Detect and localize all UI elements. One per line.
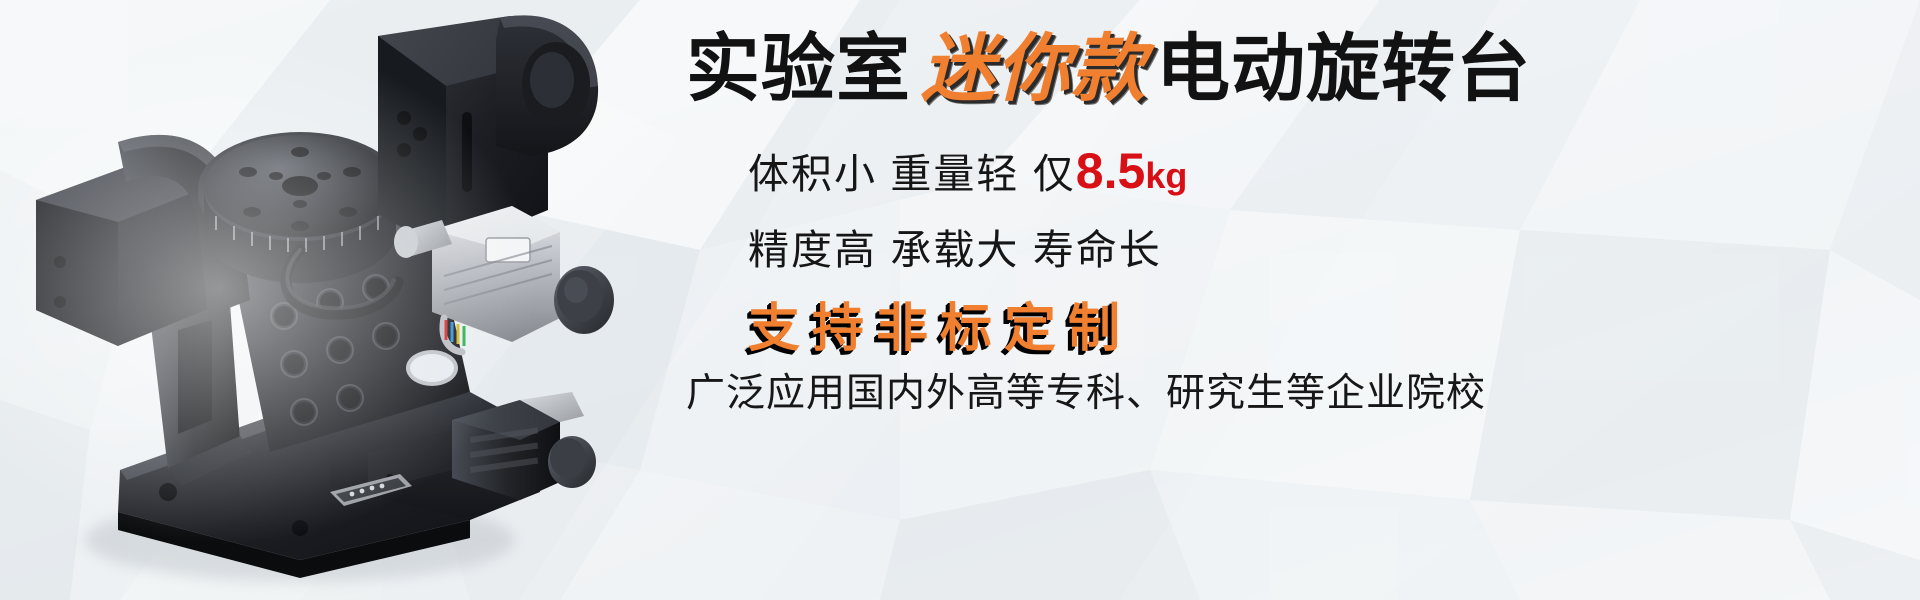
weight-unit: kg <box>1145 155 1187 196</box>
rotary-index-table <box>198 132 402 283</box>
feature-line-precision: 精度高 承载大 寿命长 <box>748 216 1162 276</box>
application-line: 广泛应用国内外高等专科、研究生等企业院校 <box>686 362 1486 418</box>
headline-accent: 迷你款 <box>911 27 1156 110</box>
rotary-stage-illustration <box>0 0 640 600</box>
headline: 实验室迷你款电动旋转台 <box>686 26 1531 112</box>
product-image <box>0 0 640 600</box>
headline-before: 实验室 <box>686 27 911 110</box>
promo-banner: 实验室迷你款电动旋转台 体积小 重量轻 仅8.5kg 精度高 承载大 寿命长 支… <box>0 0 1920 600</box>
feature-line-size-weight: 体积小 重量轻 仅8.5kg <box>748 140 1187 200</box>
feature-text-1: 体积小 重量轻 仅 <box>748 151 1076 197</box>
copy-block: 实验室迷你款电动旋转台 体积小 重量轻 仅8.5kg 精度高 承载大 寿命长 支… <box>686 0 1920 600</box>
headline-after: 电动旋转台 <box>1156 27 1531 110</box>
weight-number: 8.5 <box>1076 143 1146 199</box>
custom-order-badge: 支持非标定制 <box>748 286 1132 361</box>
feature-text-2: 精度高 承载大 寿命长 <box>748 227 1162 273</box>
